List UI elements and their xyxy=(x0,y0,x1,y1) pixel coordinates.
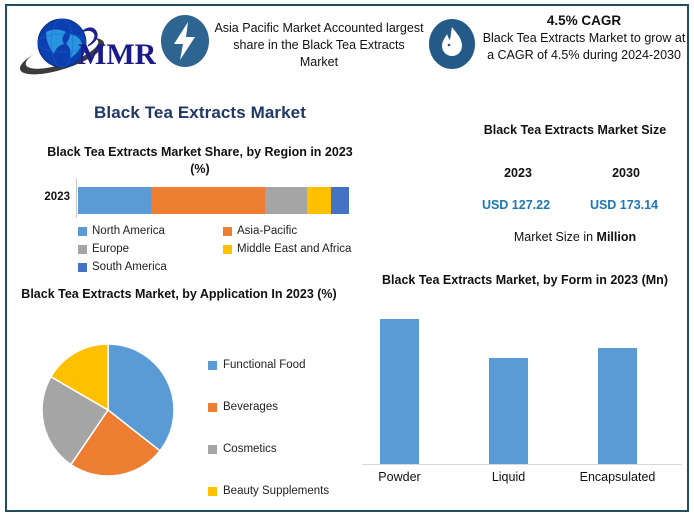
legend-label: North America xyxy=(92,225,165,237)
mmr-logo: MMR xyxy=(16,12,156,76)
infographic-canvas: MMR Asia Pacific Market Accounted larges… xyxy=(0,0,694,516)
form-category-label: Powder xyxy=(340,470,459,484)
legend-label: Beverages xyxy=(223,401,278,413)
form-bar xyxy=(598,348,637,464)
form-bar xyxy=(380,319,419,464)
legend-row: EuropeMiddle East and Africa xyxy=(78,240,368,258)
legend-item: Middle East and Africa xyxy=(223,243,368,255)
header-right-block: 4.5% CAGR Black Tea Extracts Market to g… xyxy=(480,12,688,64)
market-size-unit: Market Size in Million xyxy=(460,230,690,244)
legend-label: Asia-Pacific xyxy=(237,225,297,237)
legend-row: North AmericaAsia-Pacific xyxy=(78,222,368,240)
legend-swatch-icon xyxy=(208,361,217,370)
application-chart-title: Black Tea Extracts Market, by Applicatio… xyxy=(14,286,344,303)
legend-item: North America xyxy=(78,225,223,237)
legend-label: Functional Food xyxy=(223,359,305,371)
region-segment xyxy=(151,187,265,214)
market-size-title: Black Tea Extracts Market Size xyxy=(460,122,690,139)
legend-swatch-icon xyxy=(208,487,217,496)
legend-swatch-icon xyxy=(78,263,87,272)
application-pie-chart xyxy=(40,342,176,478)
region-segment xyxy=(331,187,349,214)
legend-swatch-icon xyxy=(208,403,217,412)
legend-label: Middle East and Africa xyxy=(237,243,351,255)
region-chart-axis xyxy=(76,178,77,218)
market-size-unit-prefix: Market Size in xyxy=(514,230,597,244)
form-chart-baseline xyxy=(362,464,682,465)
lightning-bolt-icon xyxy=(160,14,210,68)
legend-item: Asia-Pacific xyxy=(223,225,368,237)
region-chart-title: Black Tea Extracts Market Share, by Regi… xyxy=(40,144,360,178)
market-size-year-2023: 2023 xyxy=(470,166,566,180)
form-bar xyxy=(489,358,528,464)
legend-item: Beauty Supplements xyxy=(208,470,358,512)
legend-row: South America xyxy=(78,258,368,276)
legend-label: Cosmetics xyxy=(223,443,277,455)
globe-swoosh-logo: MMR xyxy=(16,12,156,76)
legend-item: South America xyxy=(78,261,223,273)
legend-item: Functional Food xyxy=(208,344,358,386)
logo-wordmark: MMR xyxy=(78,38,156,71)
legend-label: Beauty Supplements xyxy=(223,485,329,497)
region-stacked-bar xyxy=(78,187,349,214)
region-segment xyxy=(307,187,331,214)
market-size-value-2023: USD 127.22 xyxy=(468,198,564,212)
legend-swatch-icon xyxy=(223,227,232,236)
region-segment xyxy=(265,187,307,214)
market-size-year-2030: 2030 xyxy=(578,166,674,180)
legend-item: Cosmetics xyxy=(208,428,358,470)
flame-icon xyxy=(428,18,476,70)
application-chart-legend: Functional FoodBeveragesCosmeticsBeauty … xyxy=(208,344,358,512)
region-chart-legend: North AmericaAsia-PacificEuropeMiddle Ea… xyxy=(78,222,368,276)
form-bar-chart-plot xyxy=(362,312,682,464)
cagr-headline: 4.5% CAGR xyxy=(480,12,688,29)
legend-item: Europe xyxy=(78,243,223,255)
legend-swatch-icon xyxy=(223,245,232,254)
header-right-text: Black Tea Extracts Market to grow at a C… xyxy=(483,31,686,62)
market-size-value-2030: USD 173.14 xyxy=(576,198,672,212)
market-size-unit-bold: Million xyxy=(597,230,637,244)
legend-swatch-icon xyxy=(78,227,87,236)
legend-swatch-icon xyxy=(78,245,87,254)
legend-item: Beverages xyxy=(208,386,358,428)
region-segment xyxy=(78,187,151,214)
form-category-label: Liquid xyxy=(449,470,568,484)
form-chart-category-labels: PowderLiquidEncapsulated xyxy=(362,470,682,492)
legend-swatch-icon xyxy=(208,445,217,454)
header-left-text: Asia Pacific Market Accounted largest sh… xyxy=(214,20,424,71)
page-title: Black Tea Extracts Market xyxy=(0,103,400,123)
form-category-label: Encapsulated xyxy=(558,470,677,484)
legend-label: Europe xyxy=(92,243,129,255)
form-chart-title: Black Tea Extracts Market, by Form in 20… xyxy=(370,272,680,289)
region-chart-category-label: 2023 xyxy=(22,191,70,203)
legend-label: South America xyxy=(92,261,167,273)
